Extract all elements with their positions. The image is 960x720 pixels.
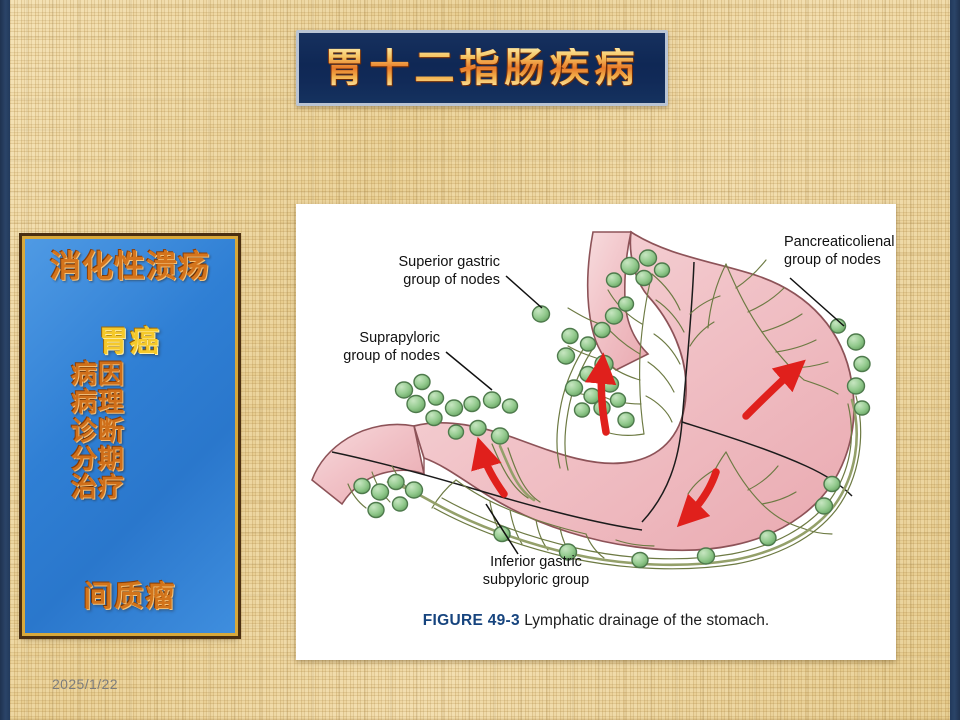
label-superior-gastric-line2: group of nodes: [403, 272, 500, 288]
figure-caption-text: Lymphatic drainage of the stomach.: [520, 612, 769, 629]
date-stamp: 2025/1/22: [52, 676, 118, 692]
figure-label-suprapyloric: Suprapyloric group of nodes: [343, 330, 440, 364]
label-suprapyloric-line2: group of nodes: [343, 348, 440, 364]
figure-caption-number: FIGURE 49-3: [423, 612, 520, 629]
outline-subitem-pathology[interactable]: 病理: [71, 390, 125, 417]
label-pancreaticolienal-line2: group of nodes: [784, 252, 881, 268]
label-inferior-gastric-line1: Inferior gastric: [490, 554, 582, 570]
outline-item-gist[interactable]: 间质瘤: [83, 581, 176, 611]
page-title: 胃十二指肠疾病: [325, 48, 640, 88]
label-suprapyloric-line1: Suprapyloric: [359, 330, 440, 346]
figure-label-superior-gastric: Superior gastric group of nodes: [398, 254, 500, 288]
outline-heading-peptic-ulcer[interactable]: 消化性溃疡: [50, 251, 210, 284]
outline-item-gastric-cancer[interactable]: 胃癌: [99, 326, 161, 356]
outline-sublist: 病因 病理 诊断 分期 治疗: [71, 362, 125, 502]
lymphatic-drainage-illustration: Superior gastric group of nodes Suprapyl…: [296, 204, 896, 604]
slide-root: 胃十二指肠疾病 消化性溃疡 胃癌 病因 病理 诊断 分期 治疗 间质瘤: [0, 0, 960, 720]
figure-panel: Superior gastric group of nodes Suprapyl…: [296, 204, 896, 660]
outline-subitem-treatment[interactable]: 治疗: [71, 475, 125, 502]
leader-superior-gastric: [506, 276, 542, 308]
outline-panel: 消化性溃疡 胃癌 病因 病理 诊断 分期 治疗 间质瘤: [22, 236, 238, 636]
figure-label-pancreaticolienal: Pancreaticolienal group of nodes: [784, 234, 894, 268]
title-plaque: 胃十二指肠疾病: [296, 30, 668, 106]
label-superior-gastric-line1: Superior gastric: [398, 254, 500, 270]
figure-label-inferior-gastric: Inferior gastric subpyloric group: [483, 554, 589, 588]
slide-edge-left: [0, 0, 10, 720]
outline-subitem-diagnosis[interactable]: 诊断: [71, 419, 125, 446]
figure-caption: FIGURE 49-3 Lymphatic drainage of the st…: [296, 612, 896, 630]
label-pancreaticolienal-line1: Pancreaticolienal: [784, 234, 894, 250]
leader-suprapyloric: [446, 352, 492, 390]
outline-subitem-etiology[interactable]: 病因: [71, 362, 125, 389]
slide-edge-right: [950, 0, 960, 720]
label-inferior-gastric-line2: subpyloric group: [483, 572, 589, 588]
outline-subitem-staging[interactable]: 分期: [71, 447, 125, 474]
